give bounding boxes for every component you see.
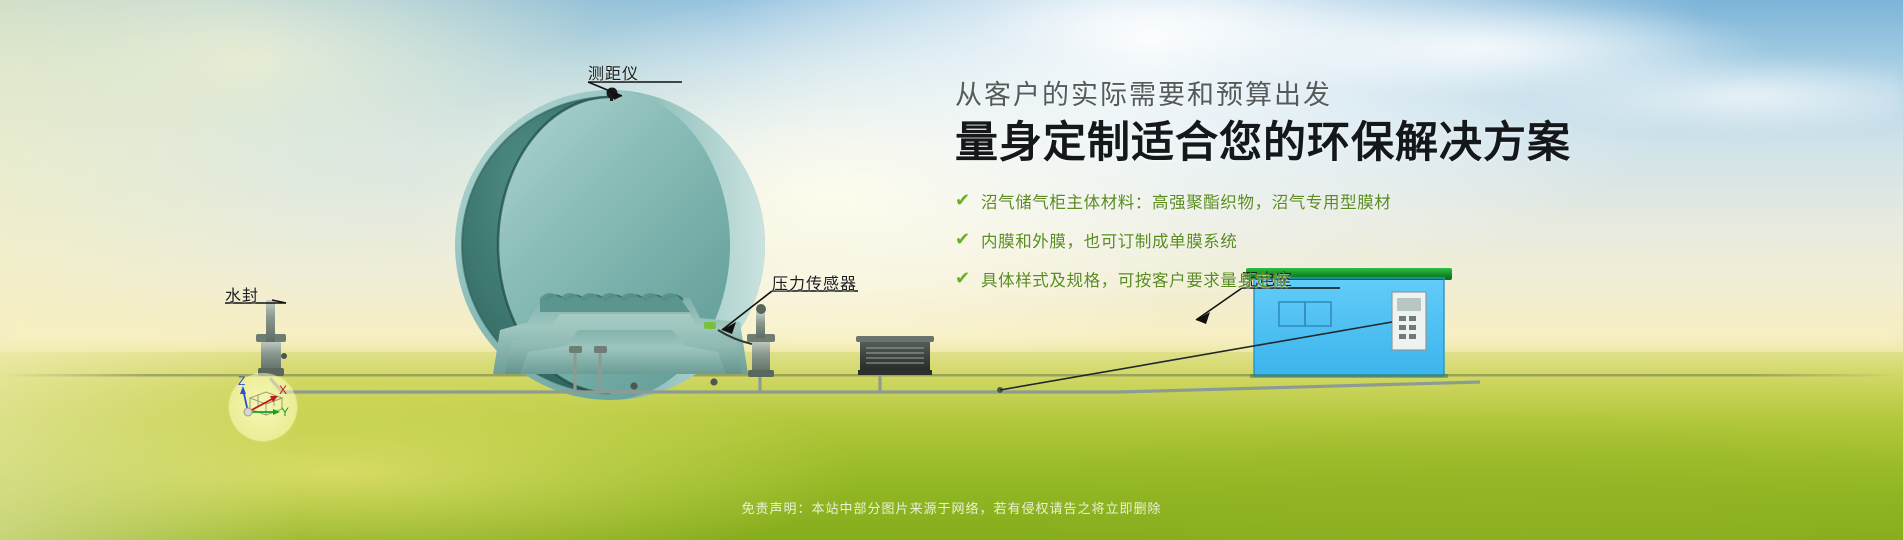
gizmo-origin: [244, 408, 252, 416]
label-rangefinder: 测距仪: [588, 60, 639, 84]
compressor-top-plate: [856, 336, 934, 342]
pressure-sensor-head: [756, 304, 766, 314]
gizmo-label-z: Z: [238, 374, 245, 388]
bullet-text: 具体样式及规格，可按客户要求量身定做: [981, 267, 1289, 291]
water-seal-riser: [266, 300, 275, 342]
compressor-body: [860, 340, 930, 372]
label-pressure-sensor: 压力传感器: [772, 270, 857, 294]
pipe-node-1: [630, 382, 637, 389]
sensor-connector: [704, 322, 716, 329]
list-item: ✔ 具体样式及规格，可按客户要求量身定做: [955, 267, 1775, 291]
pipe-right-main: [1120, 382, 1480, 392]
feature-bullet-list: ✔ 沼气储气柜主体材料：高强聚酯织物，沼气专用型膜材 ✔ 内膜和外膜，也可订制成…: [955, 189, 1775, 291]
pipe-cap-a: [569, 346, 582, 353]
bullet-text: 内膜和外膜，也可订制成单膜系统: [981, 228, 1238, 252]
pipe-node-2: [710, 378, 717, 385]
copy-headline: 量身定制适合您的环保解决方案: [955, 117, 1775, 171]
water-seal-valve: [281, 353, 287, 359]
axis-gizmo: Z Y X: [229, 373, 297, 441]
label-water-seal: 水封: [225, 282, 259, 306]
compressor-base: [858, 370, 932, 375]
bullet-text: 沼气储气柜主体材料：高强聚酯织物，沼气专用型膜材: [981, 189, 1391, 213]
hero-banner: Z Y X 测距仪 水封 压力传感器 配电室 从客户的实际需要和预算出发 量身定…: [0, 0, 1903, 540]
gizmo-label-x: X: [279, 383, 287, 397]
building-foundation: [1250, 374, 1448, 378]
check-icon: ✔: [955, 270, 972, 287]
check-icon: ✔: [955, 192, 972, 209]
membrane-crest-fill: [540, 293, 690, 312]
water-seal-unit: [256, 300, 287, 376]
list-item: ✔ 沼气储气柜主体材料：高强聚酯织物，沼气专用型膜材: [955, 189, 1775, 213]
compressor-unit: [856, 336, 934, 375]
pipe-cap-b: [594, 346, 607, 353]
list-item: ✔ 内膜和外膜，也可订制成单膜系统: [955, 228, 1775, 252]
pressure-sensor-riser: [756, 312, 765, 338]
gizmo-label-y: Y: [281, 405, 289, 419]
check-icon: ✔: [955, 231, 972, 248]
disclaimer-text: 免责声明：本站中部分图片来源于网络，若有侵权请告之将立即删除: [0, 498, 1903, 517]
water-seal-body: [261, 340, 281, 372]
pressure-sensor-base: [748, 370, 774, 377]
marketing-copy: 从客户的实际需要和预算出发 量身定制适合您的环保解决方案 ✔ 沼气储气柜主体材料…: [955, 78, 1775, 306]
ground-line: [0, 374, 1903, 377]
copy-eyebrow: 从客户的实际需要和预算出发: [955, 78, 1775, 113]
pressure-sensor-body: [752, 340, 770, 374]
pipe-left-main: [270, 378, 560, 392]
gas-holder-dome: [455, 88, 765, 401]
